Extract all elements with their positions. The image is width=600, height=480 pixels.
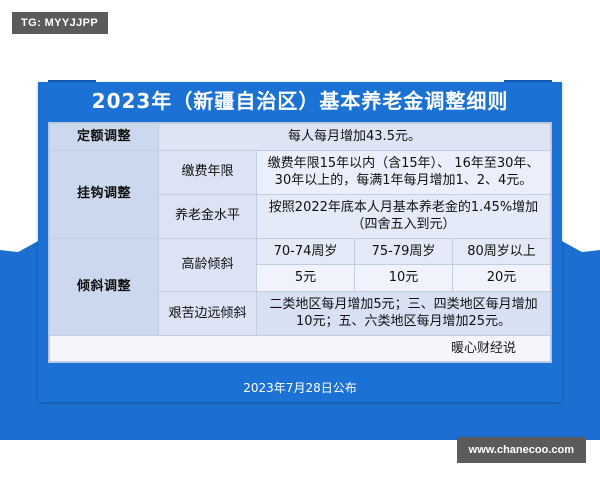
publish-date-footer: 2023年7月28日公布 xyxy=(38,374,562,402)
table-row-signature: 暖心财经说 xyxy=(50,335,551,362)
age-amount-70-74: 5元 xyxy=(257,265,355,292)
remote-tilt-value: 二类地区每月增加5元；三、四类地区每月增加10元；五、六类地区每月增加25元。 xyxy=(257,291,551,335)
category-label-tilt: 倾斜调整 xyxy=(50,238,159,335)
sub-label-pension-level: 养老金水平 xyxy=(159,194,257,238)
pension-adjustment-card: 2023年（新疆自治区）基本养老金调整细则 定额调整 每人每月增加43.5元。 … xyxy=(38,82,562,402)
table-row-quota: 定额调整 每人每月增加43.5元。 xyxy=(50,124,551,151)
detail-table-container: 定额调整 每人每月增加43.5元。 挂钩调整 缴费年限 缴费年限15年以内（含1… xyxy=(48,122,552,363)
site-watermark-badge: www.chanecoo.com xyxy=(457,437,586,463)
category-label-quota: 定额调整 xyxy=(50,124,159,151)
tg-watermark-badge: TG: MYYJJPP xyxy=(12,12,108,34)
age-amount-80-plus: 20元 xyxy=(453,265,551,292)
category-label-linked: 挂钩调整 xyxy=(50,150,159,238)
pension-level-line2: （四舍五入到元） xyxy=(263,216,544,234)
pension-level-line1: 按照2022年底本人月基本养老金的1.45%增加 xyxy=(263,199,544,217)
age-bracket-70-74: 70-74周岁 xyxy=(257,238,355,265)
sub-label-age-tilt: 高龄倾斜 xyxy=(159,238,257,291)
pension-detail-table: 定额调整 每人每月增加43.5元。 挂钩调整 缴费年限 缴费年限15年以内（含1… xyxy=(49,123,551,362)
age-bracket-75-79: 75-79周岁 xyxy=(355,238,453,265)
age-amount-75-79: 10元 xyxy=(355,265,453,292)
table-row-age-brackets: 倾斜调整 高龄倾斜 70-74周岁 75-79周岁 80周岁以上 xyxy=(50,238,551,265)
quota-value: 每人每月增加43.5元。 xyxy=(159,124,551,151)
contribution-years-value: 缴费年限15年以内（含15年）、 16年至30年、30年以上的，每满1年每月增加… xyxy=(257,150,551,194)
page-title: 2023年（新疆自治区）基本养老金调整细则 xyxy=(38,82,562,120)
signature-text: 暖心财经说 xyxy=(50,335,551,362)
pension-level-value: 按照2022年底本人月基本养老金的1.45%增加 （四舍五入到元） xyxy=(257,194,551,238)
age-bracket-80-plus: 80周岁以上 xyxy=(453,238,551,265)
sub-label-contribution-years: 缴费年限 xyxy=(159,150,257,194)
table-row-linked-years: 挂钩调整 缴费年限 缴费年限15年以内（含15年）、 16年至30年、30年以上… xyxy=(50,150,551,194)
sub-label-remote-tilt: 艰苦边远倾斜 xyxy=(159,291,257,335)
